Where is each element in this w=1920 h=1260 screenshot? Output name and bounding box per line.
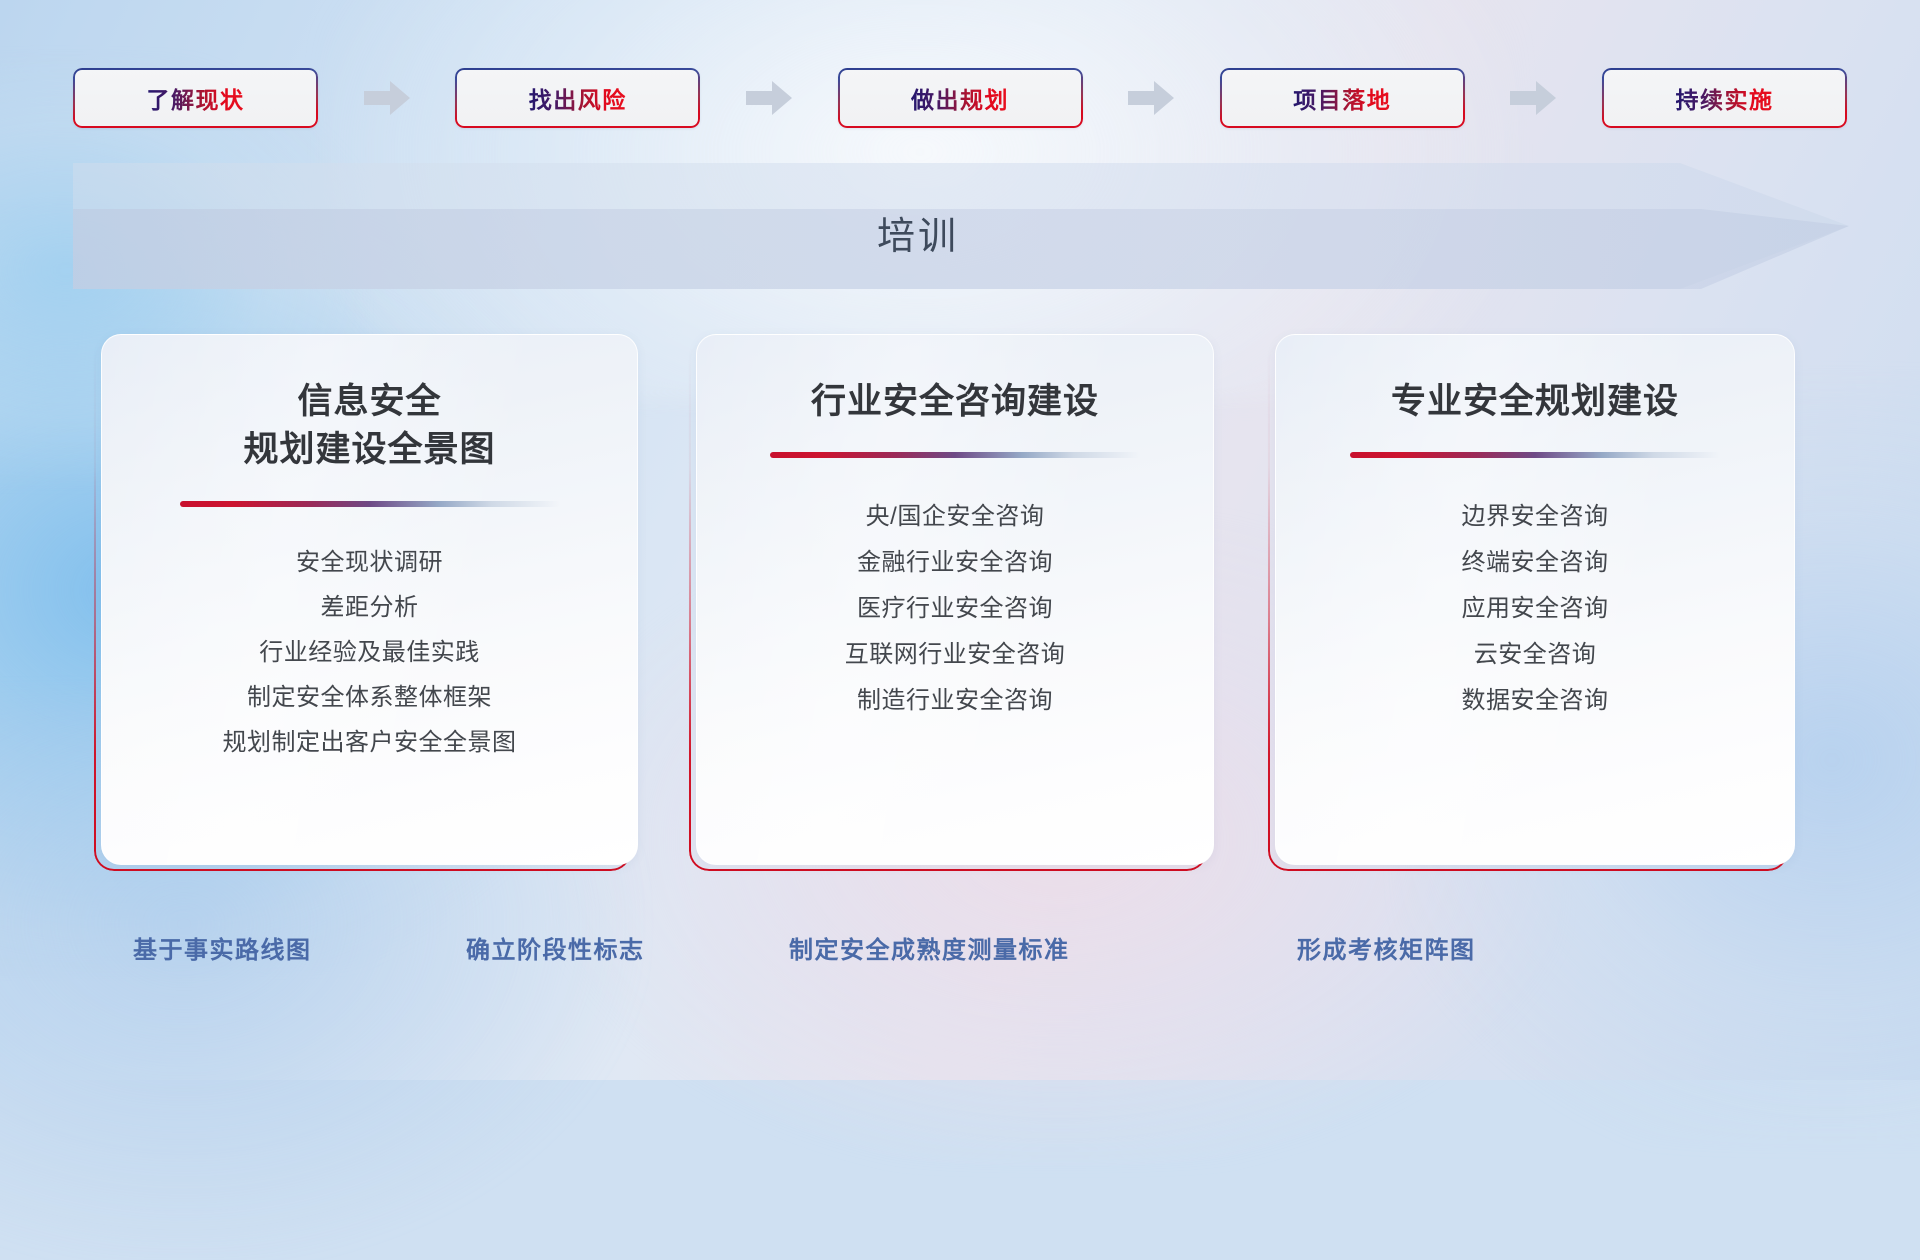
list-item: 安全现状调研 (296, 541, 443, 586)
step-label-3: 做出规划 (911, 81, 1009, 115)
list-item: 数据安全咨询 (1462, 678, 1609, 724)
list-item: 制定安全体系整体框架 (247, 676, 492, 721)
card-title: 专业安全规划建设 (1391, 378, 1679, 426)
step-box-4[interactable]: 项目落地 (1220, 68, 1465, 128)
step-box-2[interactable]: 找出风险 (455, 68, 700, 128)
step-box-1[interactable]: 了解现状 (73, 68, 318, 128)
step-arrow-2 (700, 81, 837, 115)
banner-label: 培训 (73, 163, 1763, 289)
footnote-maturity-scale: 制定安全成熟度测量标准 (789, 930, 1070, 965)
step-label-4: 项目落地 (1293, 81, 1391, 115)
step-box-5[interactable]: 持续实施 (1602, 68, 1847, 128)
card-professional-security-planning[interactable]: 专业安全规划建设 边界安全咨询 终端安全咨询 应用安全咨询 云安全咨询 数据安全… (1275, 334, 1795, 865)
step-label-2: 找出风险 (529, 81, 627, 115)
step-arrow-3 (1083, 81, 1220, 115)
card-divider (770, 452, 1140, 458)
list-item: 云安全咨询 (1474, 632, 1597, 678)
list-item: 应用安全咨询 (1462, 586, 1609, 632)
list-item: 行业经验及最佳实践 (259, 631, 480, 676)
card-industry-security-consulting[interactable]: 行业安全咨询建设 央/国企安全咨询 金融行业安全咨询 医疗行业安全咨询 互联网行… (696, 334, 1214, 865)
step-label-5: 持续实施 (1676, 81, 1774, 115)
card-list: 央/国企安全咨询 金融行业安全咨询 医疗行业安全咨询 互联网行业安全咨询 制造行… (845, 494, 1066, 724)
step-label-1: 了解现状 (147, 81, 245, 115)
list-item: 医疗行业安全咨询 (857, 586, 1053, 632)
card-title: 信息安全 规划建设全景图 (243, 378, 495, 475)
card-title: 行业安全咨询建设 (811, 378, 1099, 426)
list-item: 金融行业安全咨询 (857, 540, 1053, 586)
list-item: 边界安全咨询 (1462, 494, 1609, 540)
footnote-row: 基于事实路线图 确立阶段性标志 制定安全成熟度测量标准 形成考核矩阵图 (0, 930, 1920, 980)
list-item: 终端安全咨询 (1462, 540, 1609, 586)
list-item: 规划制定出客户安全全景图 (223, 721, 517, 766)
card-divider (180, 501, 560, 507)
step-box-3[interactable]: 做出规划 (838, 68, 1083, 128)
card-divider (1350, 452, 1720, 458)
list-item: 制造行业安全咨询 (857, 678, 1053, 724)
footnote-roadmap: 基于事实路线图 (133, 930, 312, 965)
list-item: 互联网行业安全咨询 (845, 632, 1066, 678)
list-item: 差距分析 (321, 586, 419, 631)
process-steps: 了解现状 找出风险 做出规划 项目落地 持续实施 (0, 62, 1920, 134)
capability-cards: 信息安全 规划建设全景图 安全现状调研 差距分析 行业经验及最佳实践 制定安全体… (0, 334, 1920, 874)
footnote-milestones: 确立阶段性标志 (466, 930, 645, 965)
footnote-assessment-matrix: 形成考核矩阵图 (1297, 930, 1476, 965)
step-arrow-4 (1465, 81, 1602, 115)
card-list: 边界安全咨询 终端安全咨询 应用安全咨询 云安全咨询 数据安全咨询 (1462, 494, 1609, 724)
card-list: 安全现状调研 差距分析 行业经验及最佳实践 制定安全体系整体框架 规划制定出客户… (223, 541, 517, 766)
step-arrow-1 (318, 81, 455, 115)
training-banner: 培训 (73, 163, 1849, 289)
card-information-security-blueprint[interactable]: 信息安全 规划建设全景图 安全现状调研 差距分析 行业经验及最佳实践 制定安全体… (101, 334, 638, 865)
list-item: 央/国企安全咨询 (866, 494, 1045, 540)
